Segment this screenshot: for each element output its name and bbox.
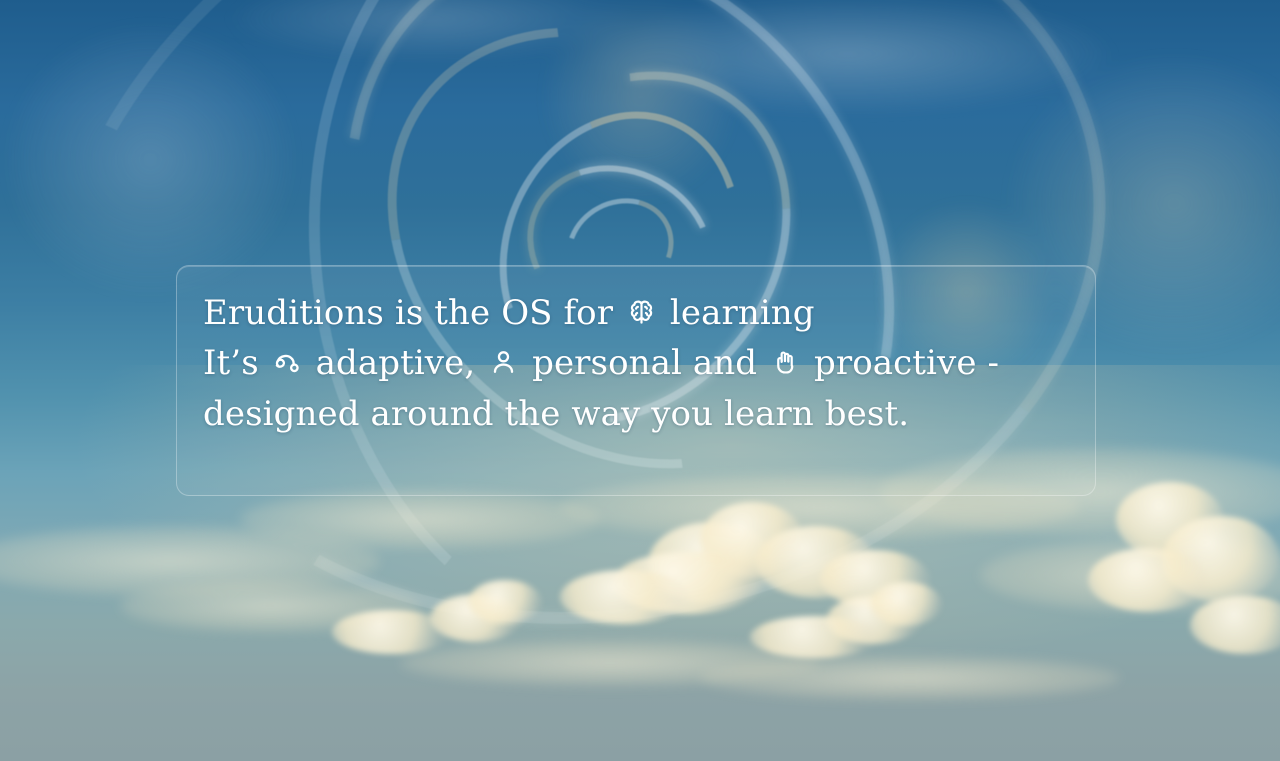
subline: It’s adaptive, personal and [203,338,1063,440]
person-icon [488,347,519,378]
brain-icon [626,297,657,328]
hero-glass-card: Eruditions is the OS for learning It’s [176,265,1096,496]
subline-text-3: personal and [532,343,757,383]
route-icon [272,347,303,378]
headline-text-after: learning [670,293,815,333]
hand-pointing-icon [770,347,801,378]
headline: Eruditions is the OS for learning [203,294,1069,332]
subline-text-1: It’s [203,343,259,383]
subline-text-2: adaptive, [316,343,476,383]
scene-root: Eruditions is the OS for learning It’s [0,0,1280,761]
headline-text-before: Eruditions is the OS for [203,293,613,333]
